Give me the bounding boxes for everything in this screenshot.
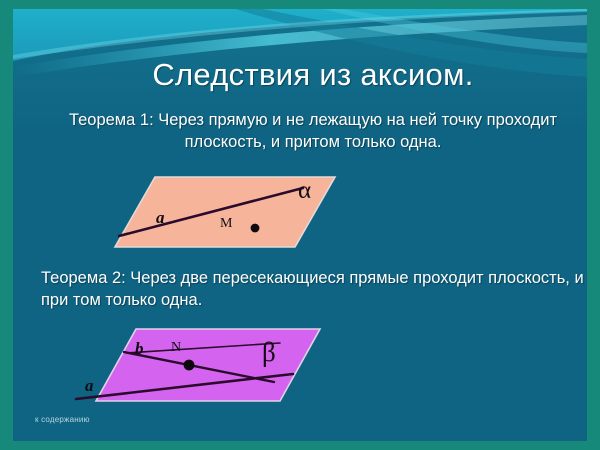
label-line-a-beta: a xyxy=(85,376,94,396)
point-m-dot xyxy=(251,224,260,233)
plane-beta-shape xyxy=(96,329,320,401)
diagram-beta xyxy=(58,319,368,419)
label-plane-alpha: α xyxy=(298,177,311,205)
label-plane-beta: β xyxy=(262,337,276,368)
theorem-1-text: Теорема 1: Через прямую и не лежащую на … xyxy=(43,109,583,153)
label-point-n: N xyxy=(171,340,181,356)
label-point-m: M xyxy=(220,216,232,232)
page-title: Следствия из аксиом. xyxy=(13,57,587,93)
theorem-2-text: Теорема 2: Через две пересекающиеся прям… xyxy=(29,267,587,311)
back-to-contents-link[interactable]: к содержанию xyxy=(35,415,90,424)
diagram-alpha xyxy=(73,164,373,259)
point-n-dot xyxy=(184,360,195,371)
label-line-a-alpha: a xyxy=(156,208,165,228)
slide-panel: Следствия из аксиом. Теорема 1: Через пр… xyxy=(13,9,587,441)
slide: Следствия из аксиом. Теорема 1: Через пр… xyxy=(0,0,600,450)
label-line-b-beta: b xyxy=(135,339,144,359)
